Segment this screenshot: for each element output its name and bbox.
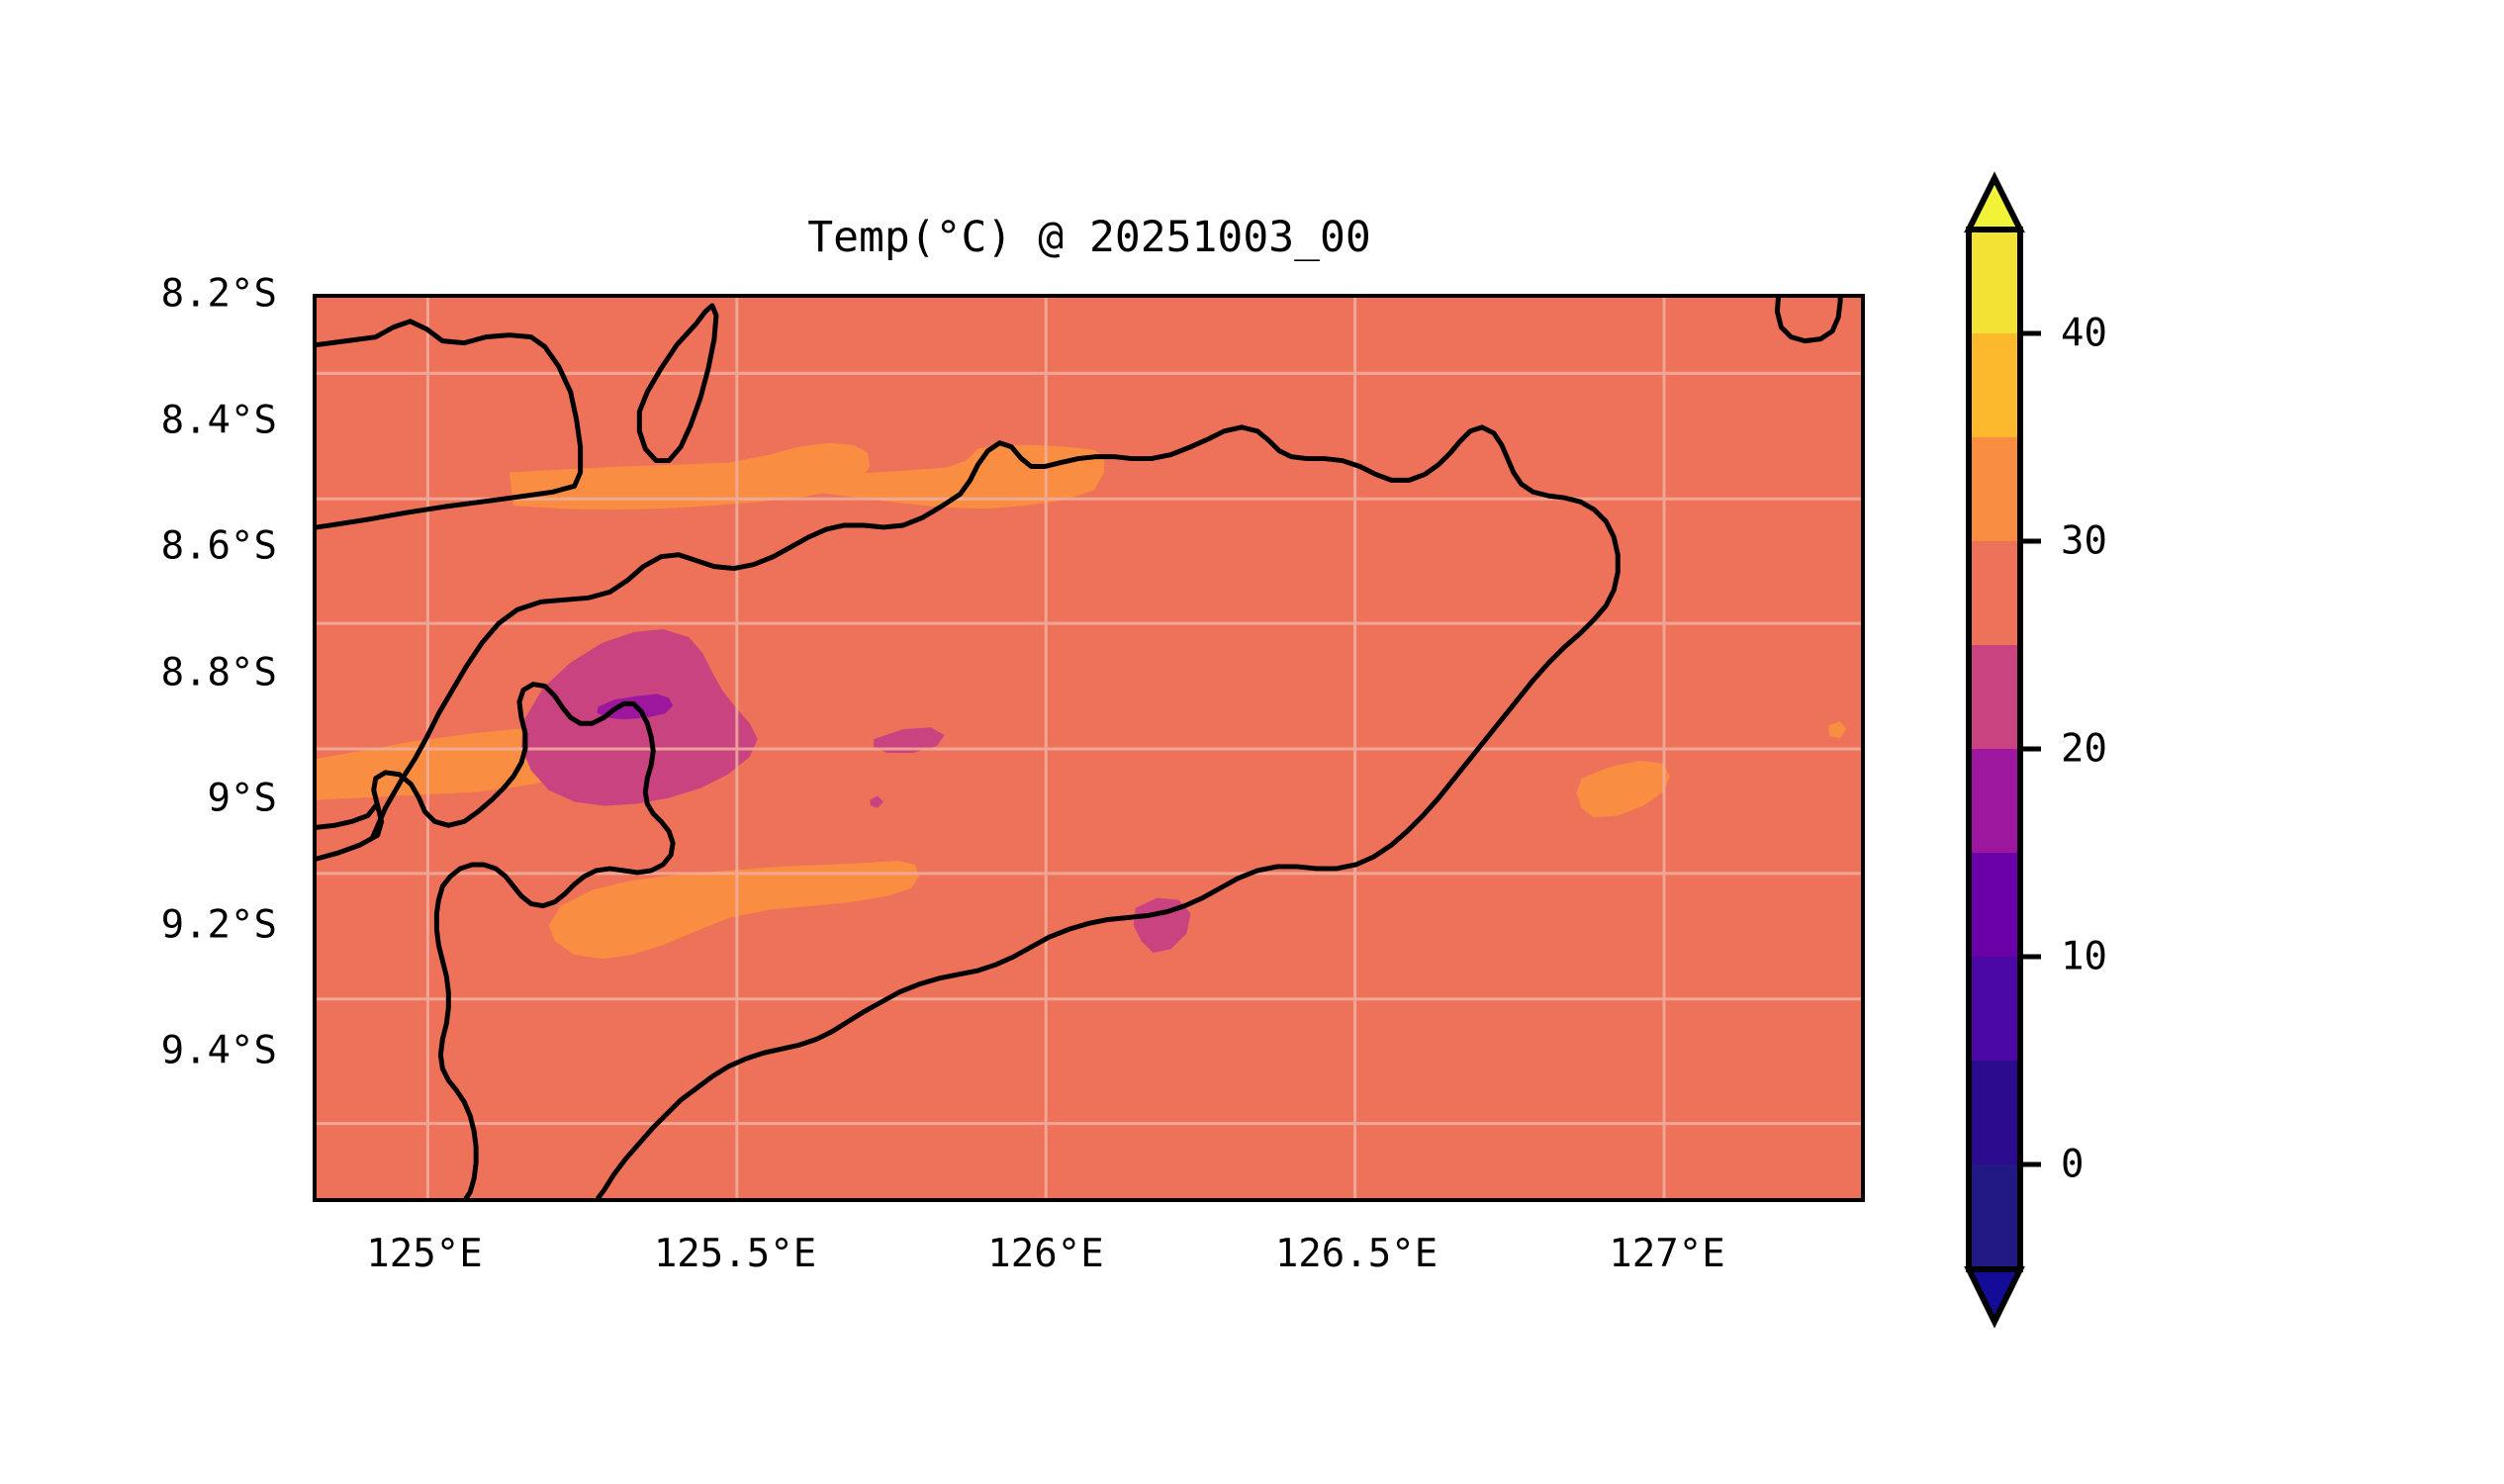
y-tick-label-8.2S: 8.2°S — [89, 272, 277, 317]
colorbar-tick-label-20: 20 — [2061, 727, 2107, 772]
y-tick-label-8.4S: 8.4°S — [89, 399, 277, 443]
colorbar-band-35-40 — [1969, 333, 2020, 437]
colorbar-tick-label-10: 10 — [2061, 935, 2107, 979]
colorbar-band-minus — [1969, 1164, 2020, 1269]
colorbar-svg — [1966, 176, 2023, 1324]
colorbar[interactable]: 40 30 20 10 0 — [1966, 176, 2023, 1324]
map-contour-svg — [317, 298, 1861, 1198]
y-tick-label-8.8S: 8.8°S — [89, 651, 277, 696]
colorbar-band-25-30 — [1969, 541, 2020, 645]
colorbar-band-0-5 — [1969, 1061, 2020, 1164]
x-tick-label-126E: 126°E — [987, 1232, 1103, 1276]
colorbar-extend-low-arrow — [1969, 1269, 2020, 1322]
colorbar-band-40-45 — [1969, 230, 2020, 333]
y-tick-label-8.6S: 8.6°S — [89, 524, 277, 569]
colorbar-tick-group — [2020, 333, 2041, 1164]
map-plot-area[interactable] — [313, 294, 1865, 1202]
x-tick-label-127E: 127°E — [1609, 1232, 1724, 1276]
chart-title-line-1: Temp(°C) @ 20251003_00 — [313, 212, 1866, 264]
x-tick-label-125E: 125°E — [366, 1232, 482, 1276]
y-tick-label-9S: 9°S — [89, 777, 277, 821]
figure-canvas: Temp(°C) @ 20251003_00 Simulation Time: … — [0, 0, 2504, 1484]
colorbar-band-5-10 — [1969, 957, 2020, 1061]
colorbar-band-30-35 — [1969, 437, 2020, 541]
colorbar-band-group — [1969, 230, 2020, 1269]
y-tick-label-9.4S: 9.4°S — [89, 1029, 277, 1073]
colorbar-tick-label-30: 30 — [2061, 519, 2107, 564]
colorbar-band-10-15 — [1969, 853, 2020, 957]
y-tick-label-9.2S: 9.2°S — [89, 903, 277, 948]
x-tick-label-125.5E: 125.5°E — [654, 1232, 816, 1276]
colorbar-band-20-25 — [1969, 645, 2020, 749]
colorbar-extend-high-arrow — [1969, 178, 2020, 230]
x-tick-label-126.5E: 126.5°E — [1275, 1232, 1437, 1276]
colorbar-tick-label-40: 40 — [2061, 312, 2107, 356]
colorbar-tick-label-0: 0 — [2061, 1143, 2084, 1187]
colorbar-band-15-20 — [1969, 749, 2020, 853]
